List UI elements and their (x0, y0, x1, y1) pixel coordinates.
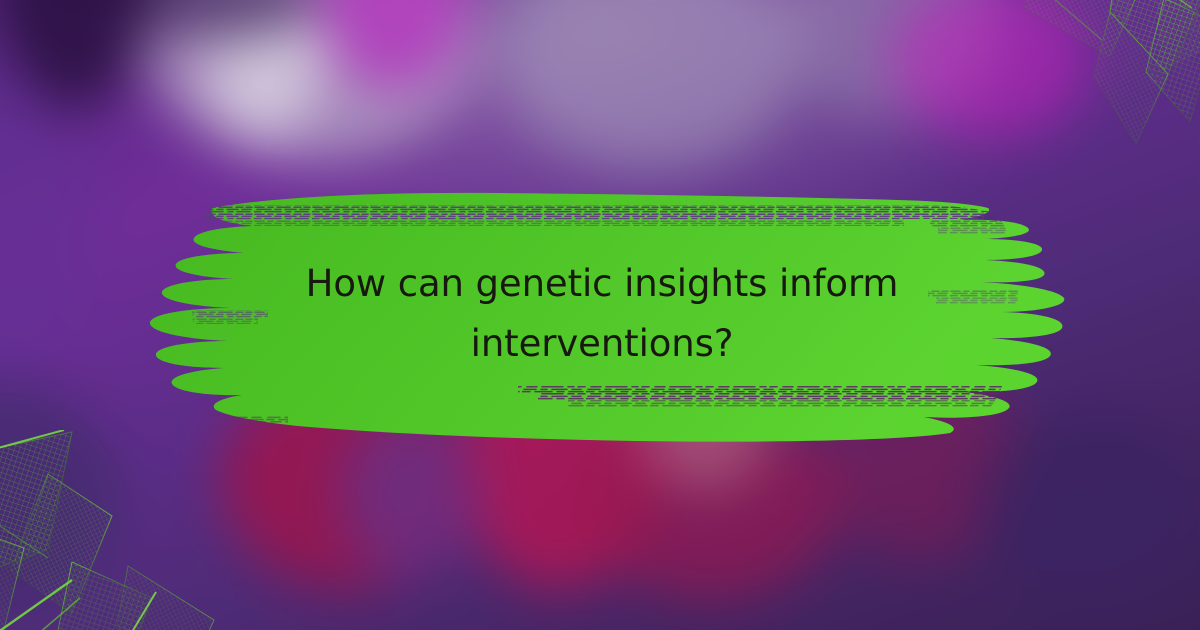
quote-card: How can genetic insights inform interven… (0, 0, 1200, 630)
bg-blob-light (500, 0, 800, 170)
bg-blob-purple (0, 380, 120, 610)
headline-line-1: How can genetic insights inform (306, 256, 899, 312)
page-title: How can genetic insights inform interven… (138, 178, 1066, 450)
bg-blob-magenta (890, 0, 1090, 140)
headline-line-2: interventions? (471, 316, 734, 372)
